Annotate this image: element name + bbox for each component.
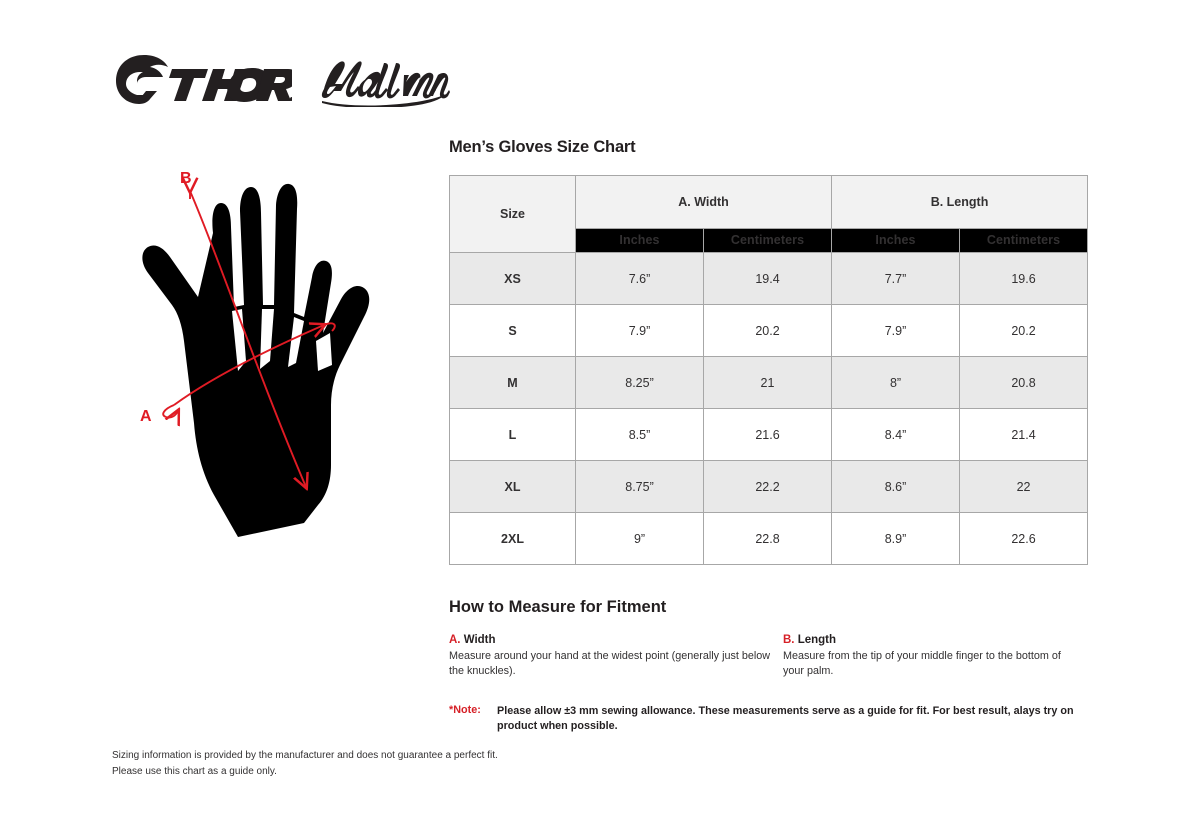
col-header-length-centimeters: Centimeters — [960, 228, 1088, 252]
col-header-length-inches: Inches — [832, 228, 960, 252]
diagram-label-a: A — [140, 408, 152, 425]
note-text: Please allow ±3 mm sewing allowance. The… — [497, 704, 1077, 735]
col-header-width-centimeters: Centimeters — [704, 228, 832, 252]
cell-length-centimeters: 21.4 — [960, 409, 1088, 461]
col-header-width: A. Width — [576, 176, 832, 229]
cell-size: XL — [450, 461, 576, 513]
measure-letter-b: B. — [783, 634, 795, 646]
brand-logo-bar — [112, 48, 472, 110]
chart-content: Men’s Gloves Size Chart Size A. Width B.… — [449, 138, 1087, 734]
col-header-width-inches: Inches — [576, 228, 704, 252]
measure-letter-a: A. — [449, 634, 461, 646]
cell-length-centimeters: 19.6 — [960, 253, 1088, 305]
measure-item-width: A. Width Measure around your hand at the… — [449, 634, 783, 679]
note-block: *Note: Please allow ±3 mm sewing allowan… — [449, 704, 1087, 735]
cell-width-centimeters: 20.2 — [704, 305, 832, 357]
cell-length-centimeters: 20.2 — [960, 305, 1088, 357]
cell-length-inches: 8.4” — [832, 409, 960, 461]
cell-length-inches: 8.6” — [832, 461, 960, 513]
table-header-row-groups: Size A. Width B. Length — [450, 176, 1088, 229]
table-row: XL 8.75” 22.2 8.6” 22 — [450, 461, 1088, 513]
col-header-size: Size — [450, 176, 576, 253]
size-chart-table: Size A. Width B. Length Inches Centimete… — [449, 175, 1088, 565]
thor-logo — [112, 51, 292, 107]
cell-size: M — [450, 357, 576, 409]
table-row: M 8.25” 21 8” 20.8 — [450, 357, 1088, 409]
cell-length-inches: 8.9” — [832, 513, 960, 565]
measure-item-length: B. Length Measure from the tip of your m… — [783, 634, 1087, 679]
table-row: XS 7.6” 19.4 7.7” 19.6 — [450, 253, 1088, 305]
measure-name-width: Width — [464, 634, 496, 646]
cell-width-inches: 9” — [576, 513, 704, 565]
hand-measurement-diagram: A B — [118, 165, 428, 545]
measure-item-length-text: Measure from the tip of your middle fing… — [783, 649, 1075, 679]
cell-width-centimeters: 21 — [704, 357, 832, 409]
measure-item-length-heading: B. Length — [783, 634, 1075, 646]
cell-length-inches: 7.7” — [832, 253, 960, 305]
how-to-measure-section: How to Measure for Fitment A. Width Meas… — [449, 598, 1087, 679]
cell-width-centimeters: 19.4 — [704, 253, 832, 305]
cell-size: 2XL — [450, 513, 576, 565]
cell-length-centimeters: 22.6 — [960, 513, 1088, 565]
cell-width-inches: 8.5” — [576, 409, 704, 461]
cell-size: XS — [450, 253, 576, 305]
measure-item-width-heading: A. Width — [449, 634, 771, 646]
cell-width-inches: 8.75” — [576, 461, 704, 513]
footer-disclaimer: Sizing information is provided by the ma… — [112, 748, 498, 779]
cell-width-inches: 7.9” — [576, 305, 704, 357]
cell-width-centimeters: 21.6 — [704, 409, 832, 461]
table-row: S 7.9” 20.2 7.9” 20.2 — [450, 305, 1088, 357]
diagram-label-b: B — [180, 170, 192, 187]
measure-name-length: Length — [798, 634, 836, 646]
cell-width-inches: 7.6” — [576, 253, 704, 305]
cell-size: L — [450, 409, 576, 461]
footer-line-2: Please use this chart as a guide only. — [112, 764, 498, 780]
table-row: L 8.5” 21.6 8.4” 21.4 — [450, 409, 1088, 461]
cell-length-inches: 7.9” — [832, 305, 960, 357]
cell-width-centimeters: 22.8 — [704, 513, 832, 565]
measure-item-width-text: Measure around your hand at the widest p… — [449, 649, 771, 679]
footer-line-1: Sizing information is provided by the ma… — [112, 748, 498, 764]
table-row: 2XL 9” 22.8 8.9” 22.6 — [450, 513, 1088, 565]
cell-size: S — [450, 305, 576, 357]
cell-length-centimeters: 22 — [960, 461, 1088, 513]
size-chart-body: XS 7.6” 19.4 7.7” 19.6 S 7.9” 20.2 7.9” … — [450, 253, 1088, 565]
col-header-length: B. Length — [832, 176, 1088, 229]
note-label: *Note: — [449, 704, 497, 716]
how-to-measure-title: How to Measure for Fitment — [449, 598, 1087, 617]
cell-width-centimeters: 22.2 — [704, 461, 832, 513]
cell-length-inches: 8” — [832, 357, 960, 409]
hallman-logo — [318, 51, 450, 107]
cell-length-centimeters: 20.8 — [960, 357, 1088, 409]
page-title: Men’s Gloves Size Chart — [449, 138, 1087, 157]
cell-width-inches: 8.25” — [576, 357, 704, 409]
